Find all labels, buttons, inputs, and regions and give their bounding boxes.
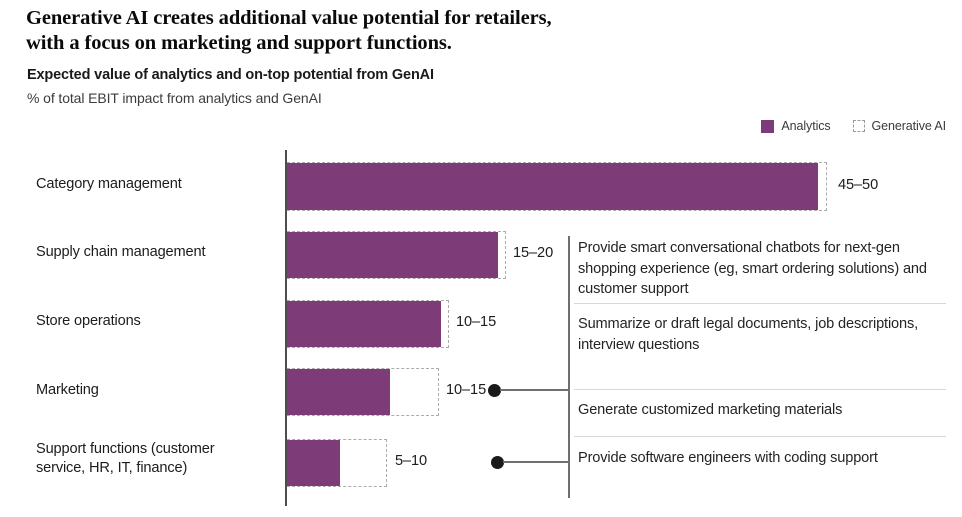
bar-segment-analytics bbox=[287, 163, 818, 210]
bar-row[interactable] bbox=[287, 301, 449, 347]
bar-value-label: 10–15 bbox=[456, 314, 496, 330]
annotation-separator bbox=[574, 389, 946, 390]
bar-row[interactable] bbox=[287, 232, 506, 278]
annotation-text: Summarize or draft legal documents, job … bbox=[578, 314, 950, 355]
annotation-text: Provide smart conversational chatbots fo… bbox=[578, 238, 950, 300]
bar-row[interactable] bbox=[287, 369, 439, 415]
bar-value-label: 5–10 bbox=[395, 453, 427, 469]
annotation-separator bbox=[574, 436, 946, 437]
connector-line bbox=[500, 389, 569, 391]
bar-value-label: 45–50 bbox=[838, 177, 878, 193]
bar-value-label: 10–15 bbox=[446, 382, 486, 398]
bar-segment-analytics bbox=[287, 440, 340, 486]
category-label: Support functions (customerservice, HR, … bbox=[36, 440, 276, 478]
bar-segment-analytics bbox=[287, 232, 498, 278]
annotation-text: Generate customized marketing materials bbox=[578, 400, 950, 421]
bar-chart-plot: 45–5015–2010–1510–155–10 Category manage… bbox=[0, 0, 962, 517]
category-label: Category management bbox=[36, 175, 276, 194]
bar-row[interactable] bbox=[287, 163, 827, 210]
category-label: Store operations bbox=[36, 312, 276, 331]
bar-segment-analytics bbox=[287, 301, 441, 347]
annotation-text: Provide software engineers with coding s… bbox=[578, 448, 950, 469]
bar-value-label: 15–20 bbox=[513, 245, 553, 261]
category-label: Supply chain management bbox=[36, 243, 276, 262]
bar-row[interactable] bbox=[287, 440, 387, 486]
connector-line bbox=[503, 461, 569, 463]
annotation-separator bbox=[574, 303, 946, 304]
annotation-divider bbox=[568, 236, 570, 498]
category-label: Marketing bbox=[36, 381, 276, 400]
bar-segment-analytics bbox=[287, 369, 390, 415]
